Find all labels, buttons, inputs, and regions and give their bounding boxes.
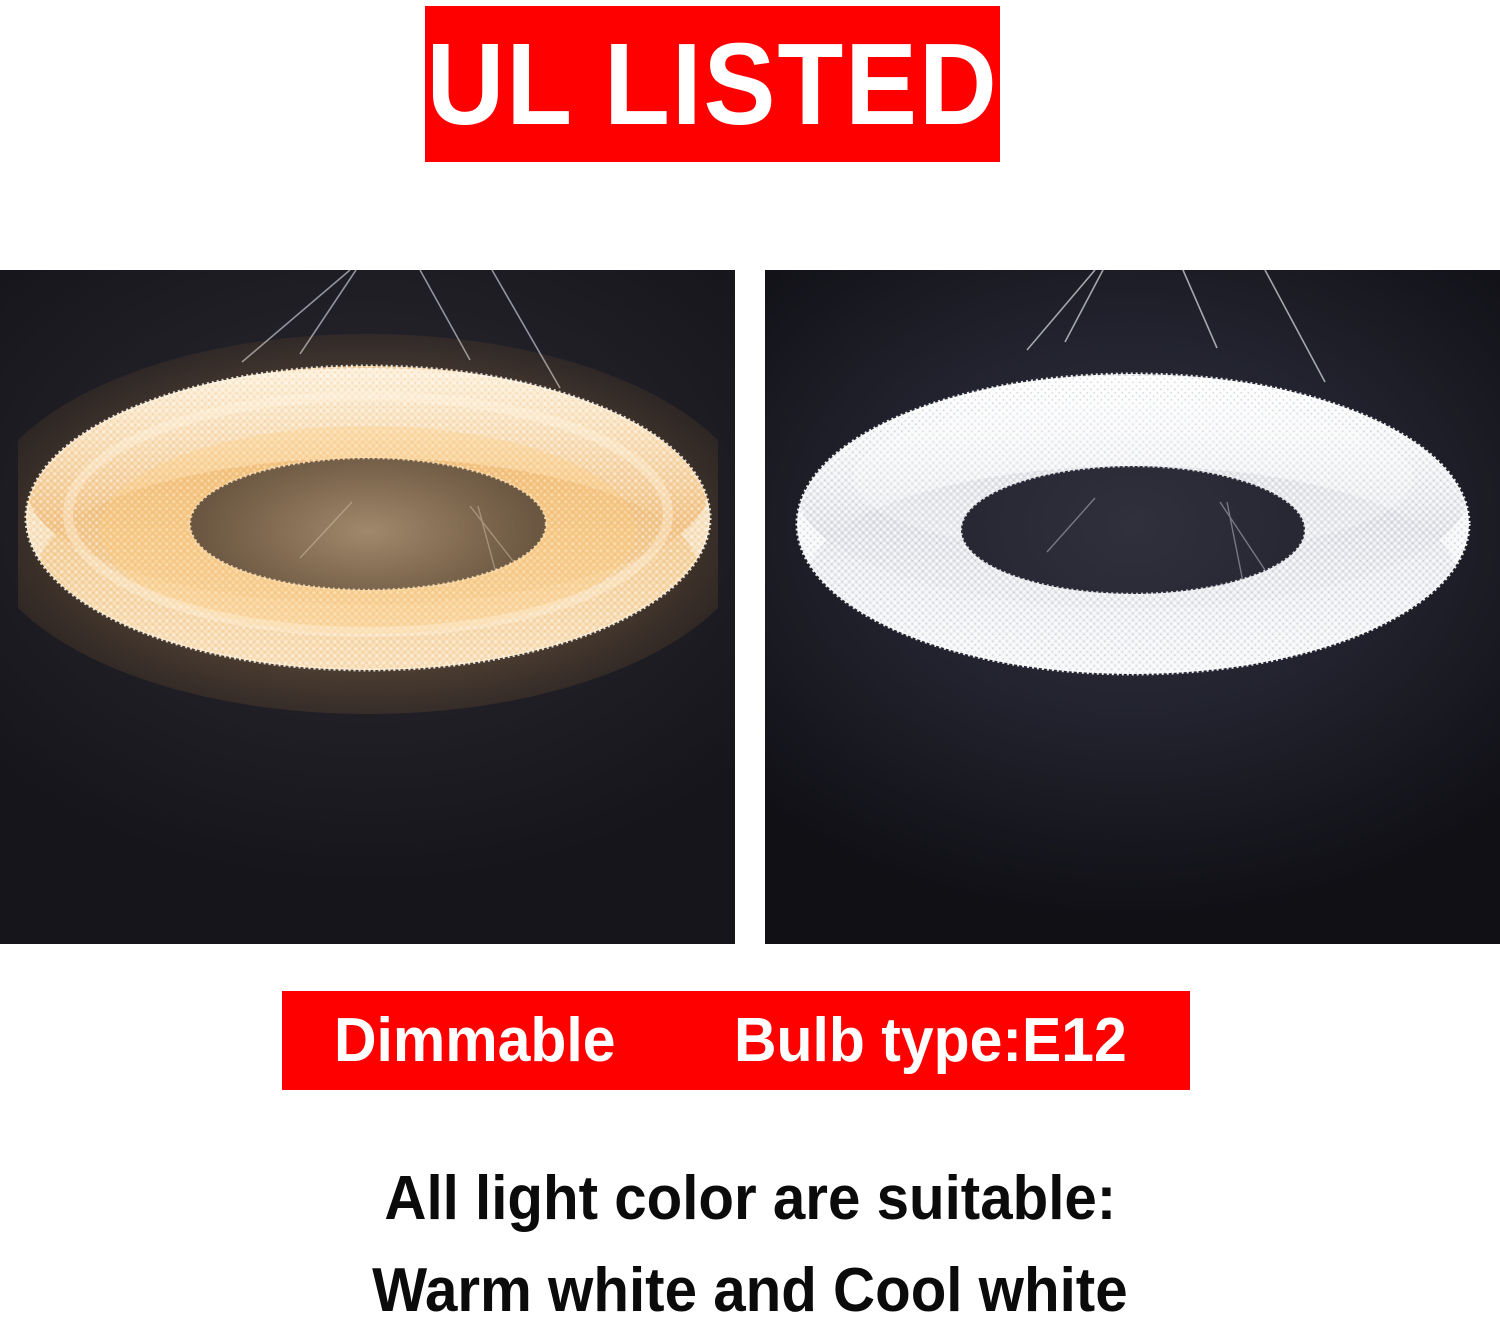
footer-line-2: Warm white and Cool white [0, 1260, 1500, 1322]
footer-line-2-text: Warm white and Cool white [372, 1260, 1128, 1322]
chandelier-ring-on [18, 318, 718, 718]
product-photo-lamp-off: Turn off [765, 270, 1500, 944]
product-photo-lamp-on: Turn on [0, 270, 735, 944]
ul-listed-label: UL LISTED [426, 26, 998, 142]
chandelier-ring-off [788, 328, 1478, 718]
dimmable-label: Dimmable [334, 1010, 616, 1072]
footer-line-1-text: All light color are suitable: [384, 1168, 1116, 1230]
spec-banner: Dimmable Bulb type:E12 [282, 991, 1190, 1090]
product-comparison-panels: Turn on [0, 270, 1500, 944]
bulb-type-label: Bulb type:E12 [734, 1010, 1127, 1072]
footer-line-1: All light color are suitable: [0, 1168, 1500, 1230]
ul-listed-banner: UL LISTED [425, 6, 1000, 162]
